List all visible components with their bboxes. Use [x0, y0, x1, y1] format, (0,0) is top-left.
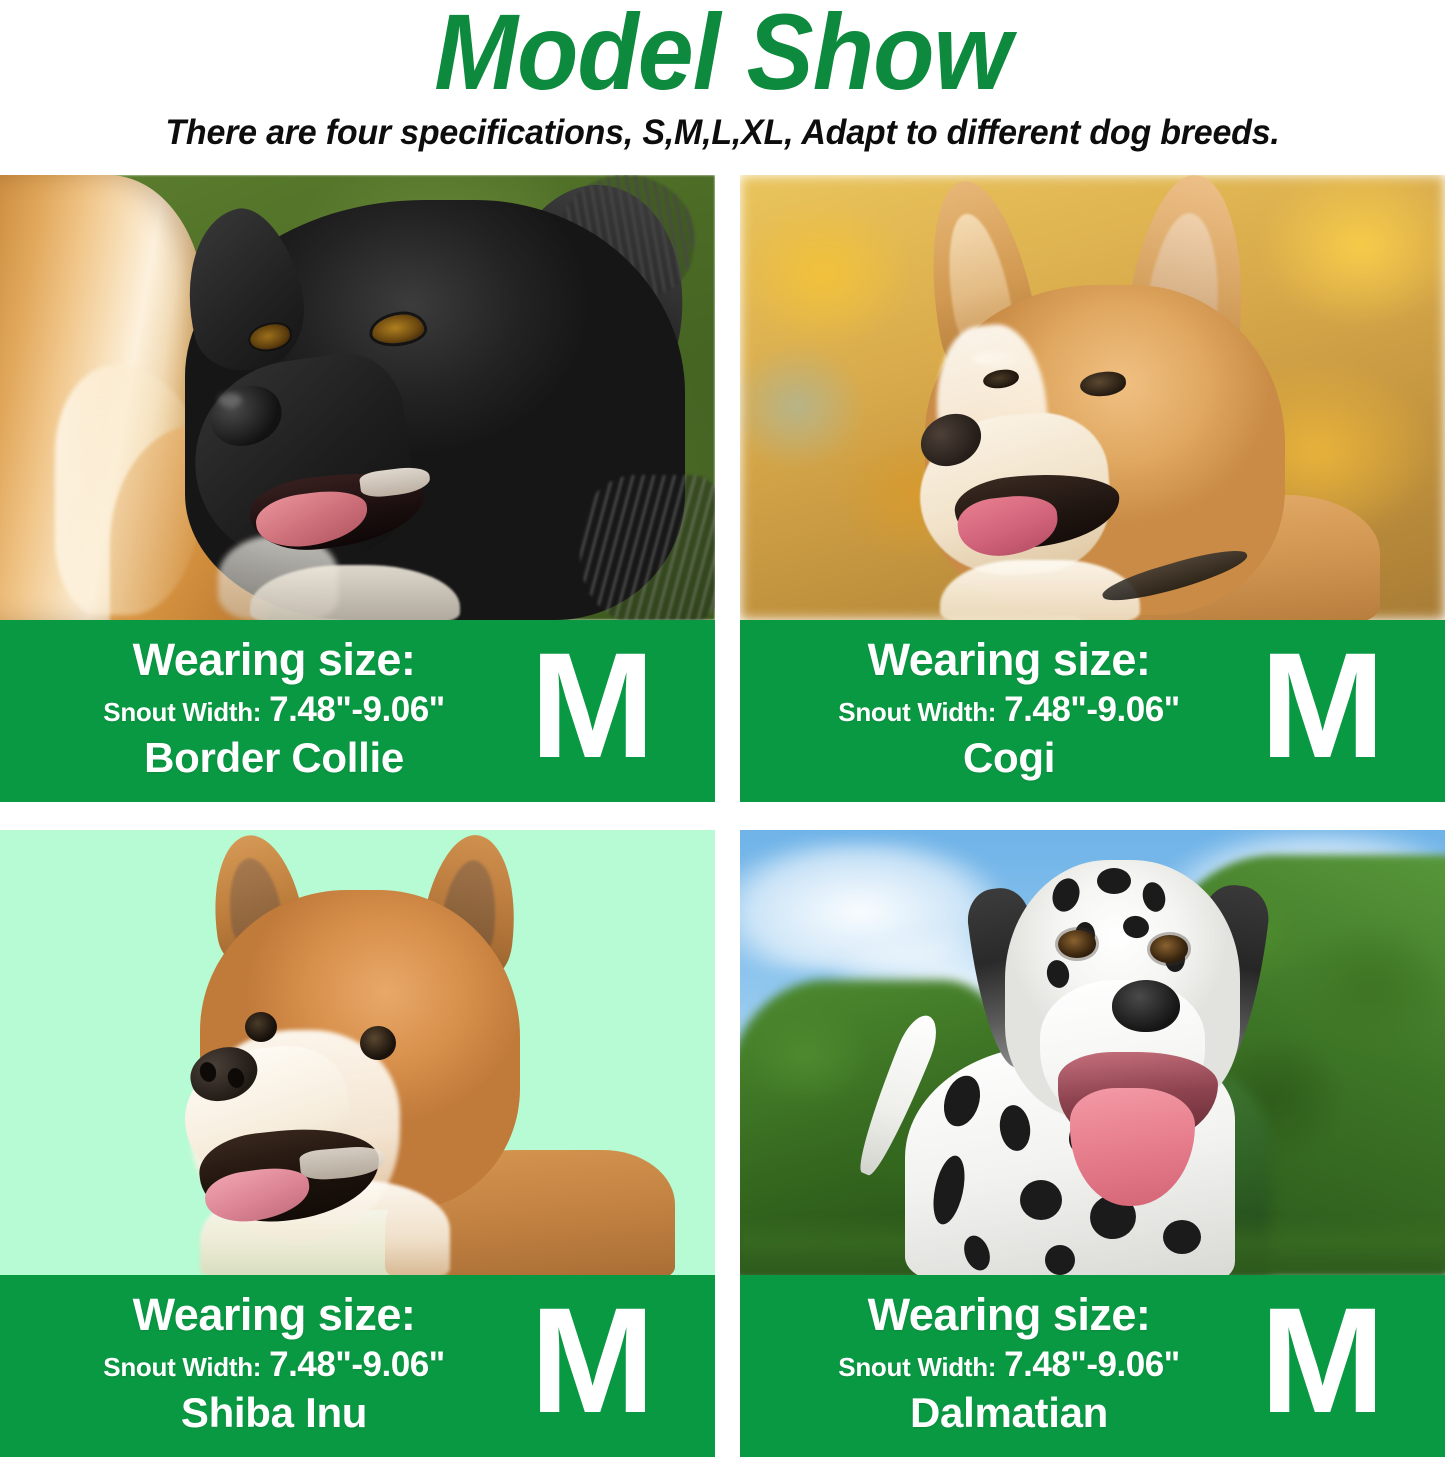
wearing-size-label: Wearing size: — [133, 1289, 416, 1341]
collie-nose-highlight — [218, 393, 242, 407]
snout-width-row: Snout Width: 7.48"-9.06" — [838, 690, 1179, 730]
model-show-grid: Wearing size: Snout Width: 7.48"-9.06" B… — [0, 175, 1445, 1457]
panel-dalmatian[interactable]: Wearing size: Snout Width: 7.48"-9.06" D… — [740, 830, 1445, 1457]
corgi-eyebrow — [972, 351, 1034, 367]
size-letter-badge: M — [530, 1289, 715, 1425]
breed-name: Dalmatian — [910, 1389, 1108, 1437]
shiba-inu-photo — [0, 830, 715, 1275]
panel-cogi[interactable]: Wearing size: Snout Width: 7.48"-9.06" C… — [740, 175, 1445, 802]
label-text-group: Wearing size: Snout Width: 7.48"-9.06" C… — [740, 634, 1260, 782]
header-banner: Model Show There are four specifications… — [0, 0, 1445, 170]
wearing-size-label: Wearing size: — [868, 1289, 1151, 1341]
shiba-left-eye — [245, 1012, 277, 1042]
snout-width-row: Snout Width: 7.48"-9.06" — [838, 1345, 1179, 1385]
size-letter-badge: M — [1260, 1289, 1445, 1425]
snout-width-value: 7.48"-9.06" — [1004, 1345, 1180, 1385]
breed-name: Shiba Inu — [181, 1389, 367, 1437]
snout-width-row: Snout Width: 7.48"-9.06" — [103, 1345, 444, 1385]
snout-width-row: Snout Width: 7.48"-9.06" — [103, 690, 444, 730]
snout-width-value: 7.48"-9.06" — [269, 690, 445, 730]
snout-width-value: 7.48"-9.06" — [1004, 690, 1180, 730]
size-label-bar: Wearing size: Snout Width: 7.48"-9.06" S… — [0, 1275, 715, 1457]
dalmatian-nose — [1112, 980, 1180, 1032]
label-text-group: Wearing size: Snout Width: 7.48"-9.06" B… — [0, 634, 530, 782]
snout-width-key: Snout Width: — [103, 1352, 261, 1383]
snout-width-value: 7.48"-9.06" — [269, 1345, 445, 1385]
dalmatian-right-eye — [1150, 935, 1188, 963]
panel-shiba-inu[interactable]: Wearing size: Snout Width: 7.48"-9.06" S… — [0, 830, 715, 1457]
wearing-size-label: Wearing size: — [868, 634, 1151, 686]
border-collie-photo — [0, 175, 715, 620]
label-text-group: Wearing size: Snout Width: 7.48"-9.06" D… — [740, 1289, 1260, 1437]
breed-name: Cogi — [963, 734, 1055, 782]
size-letter-badge: M — [1260, 634, 1445, 770]
size-label-bar: Wearing size: Snout Width: 7.48"-9.06" D… — [740, 1275, 1445, 1457]
label-text-group: Wearing size: Snout Width: 7.48"-9.06" S… — [0, 1289, 530, 1437]
dalmatian-left-eye — [1058, 930, 1096, 958]
breed-name: Border Collie — [144, 734, 404, 782]
corgi-photo — [740, 175, 1445, 620]
page-subtitle: There are four specifications, S,M,L,XL,… — [22, 112, 1424, 154]
snout-width-key: Snout Width: — [838, 1352, 996, 1383]
size-letter-badge: M — [530, 634, 715, 770]
collie-neck-fur — [580, 475, 715, 620]
page-title: Model Show — [51, 0, 1395, 108]
shiba-right-eye — [360, 1026, 396, 1060]
wearing-size-label: Wearing size: — [133, 634, 416, 686]
size-label-bar: Wearing size: Snout Width: 7.48"-9.06" C… — [740, 620, 1445, 802]
snout-width-key: Snout Width: — [838, 697, 996, 728]
size-label-bar: Wearing size: Snout Width: 7.48"-9.06" B… — [0, 620, 715, 802]
snout-width-key: Snout Width: — [103, 697, 261, 728]
panel-border-collie[interactable]: Wearing size: Snout Width: 7.48"-9.06" B… — [0, 175, 715, 802]
dalmatian-photo — [740, 830, 1445, 1275]
